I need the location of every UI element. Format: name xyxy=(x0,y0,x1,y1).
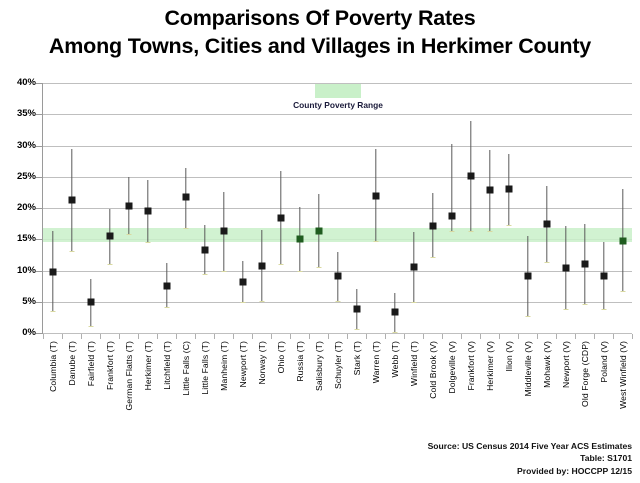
x-axis-category-label: Columbia (T) xyxy=(48,341,58,392)
x-axis-tick xyxy=(290,334,291,339)
legend-swatch-county-range xyxy=(315,84,361,98)
x-axis-category-label: German Flatts (T) xyxy=(124,341,134,411)
data-point-group[interactable] xyxy=(556,83,575,333)
x-axis-tick xyxy=(214,334,215,339)
x-axis-category-label: Winfield (T) xyxy=(409,341,419,386)
x-axis-category-label: Warren (T) xyxy=(371,341,381,383)
data-point-marker[interactable] xyxy=(505,186,512,193)
y-axis-tick xyxy=(36,239,42,240)
x-axis-category-label: Litchfield (T) xyxy=(162,341,172,390)
data-point-group[interactable] xyxy=(290,83,309,333)
x-axis-tick xyxy=(518,334,519,339)
error-bar-lower-cap xyxy=(88,326,93,327)
error-bar-lower-cap xyxy=(221,271,226,272)
data-point-marker[interactable] xyxy=(581,261,588,268)
error-bar-lower-cap xyxy=(525,316,530,317)
x-axis-category-label: Russia (T) xyxy=(295,341,305,382)
data-point-marker[interactable] xyxy=(524,273,531,280)
x-axis-category-label: Cold Brook (V) xyxy=(428,341,438,399)
data-point-marker[interactable] xyxy=(144,208,151,215)
error-bar-lower-cap xyxy=(563,309,568,310)
data-point-marker[interactable] xyxy=(296,236,303,243)
data-point-group[interactable] xyxy=(518,83,537,333)
data-point-marker[interactable] xyxy=(68,196,75,203)
data-point-group[interactable] xyxy=(62,83,81,333)
x-axis-tick xyxy=(176,334,177,339)
data-point-group[interactable] xyxy=(385,83,404,333)
error-bar-lower-cap xyxy=(297,271,302,272)
error-bar-lower-cap xyxy=(620,291,625,292)
y-axis-tick-label: 30% xyxy=(4,140,36,151)
data-point-marker[interactable] xyxy=(182,194,189,201)
error-bar-lower-cap xyxy=(392,332,397,333)
data-point-marker[interactable] xyxy=(220,228,227,235)
y-axis-tick-label: 15% xyxy=(4,233,36,244)
x-axis-category-label: Fairfield (T) xyxy=(86,341,96,386)
error-bar-lower-cap xyxy=(449,231,454,232)
x-axis-category-label: Stark (T) xyxy=(352,341,362,375)
error-bar-lower-cap xyxy=(373,241,378,242)
x-axis-category-label: Newport (V) xyxy=(561,341,571,388)
data-point-group[interactable] xyxy=(594,83,613,333)
data-point-group[interactable] xyxy=(461,83,480,333)
data-point-group[interactable] xyxy=(347,83,366,333)
error-bar-lower-cap xyxy=(50,311,55,312)
error-bar-lower-cap xyxy=(164,307,169,308)
x-axis-tick xyxy=(43,334,44,339)
data-point-group[interactable] xyxy=(195,83,214,333)
y-axis-tick-label: 35% xyxy=(4,108,36,119)
gridline xyxy=(43,333,632,334)
error-bar-lower-cap xyxy=(145,242,150,243)
error-bar-lower-cap xyxy=(506,225,511,226)
y-axis-tick-label: 0% xyxy=(4,327,36,338)
chart-footer: Source: US Census 2014 Five Year ACS Est… xyxy=(428,440,632,478)
chart-title-line-2: Among Towns, Cities and Villages in Herk… xyxy=(0,32,640,60)
page-title: Comparisons Of Poverty Rates Among Towns… xyxy=(0,4,640,60)
y-axis-tick-label: 20% xyxy=(4,202,36,213)
error-bar-lower-cap xyxy=(487,231,492,232)
data-point-group[interactable] xyxy=(176,83,195,333)
x-axis-tick xyxy=(233,334,234,339)
x-axis-category-label: Mohawk (V) xyxy=(542,341,552,388)
x-axis-category-label: Norway (T) xyxy=(257,341,267,385)
x-axis-category-label: Poland (V) xyxy=(599,341,609,383)
data-point-marker[interactable] xyxy=(429,222,436,229)
error-bar-lower-cap xyxy=(316,267,321,268)
x-axis-tick xyxy=(575,334,576,339)
x-axis-tick xyxy=(499,334,500,339)
data-point-marker[interactable] xyxy=(87,298,94,305)
error-bar-lower-cap xyxy=(259,301,264,302)
x-axis-tick xyxy=(100,334,101,339)
x-axis-tick xyxy=(347,334,348,339)
data-point-marker[interactable] xyxy=(315,227,322,234)
x-axis-tick xyxy=(594,334,595,339)
footer-source: Source: US Census 2014 Five Year ACS Est… xyxy=(428,440,632,453)
data-point-marker[interactable] xyxy=(486,186,493,193)
error-bar-lower-cap xyxy=(582,304,587,305)
data-point-marker[interactable] xyxy=(600,272,607,279)
x-axis-category-label: Herkimer (T) xyxy=(143,341,153,390)
data-point-marker[interactable] xyxy=(49,268,56,275)
data-point-group[interactable] xyxy=(499,83,518,333)
x-axis-tick xyxy=(480,334,481,339)
data-point-marker[interactable] xyxy=(410,263,417,270)
y-axis-tick xyxy=(36,83,42,84)
error-bar-lower-cap xyxy=(240,302,245,303)
x-axis-tick xyxy=(81,334,82,339)
x-axis-tick xyxy=(366,334,367,339)
x-axis-tick xyxy=(195,334,196,339)
x-axis-category-label: Herkimer (V) xyxy=(485,341,495,391)
data-point-marker[interactable] xyxy=(543,220,550,227)
data-point-marker[interactable] xyxy=(353,306,360,313)
y-axis-tick-label: 5% xyxy=(4,296,36,307)
error-bar-lower-cap xyxy=(69,251,74,252)
footer-provider: Provided by: HOCCPP 12/15 xyxy=(428,465,632,478)
x-axis-tick xyxy=(309,334,310,339)
y-axis-tick xyxy=(36,333,42,334)
data-point-marker[interactable] xyxy=(239,278,246,285)
error-bar-lower-cap xyxy=(468,231,473,232)
y-axis-tick xyxy=(36,146,42,147)
x-axis-tick xyxy=(385,334,386,339)
error-bar-lower-cap xyxy=(354,329,359,330)
data-point-marker[interactable] xyxy=(448,213,455,220)
x-axis-category-label: Manheim (T) xyxy=(219,341,229,391)
y-axis-tick-label: 40% xyxy=(4,77,36,88)
data-point-marker[interactable] xyxy=(467,173,474,180)
data-point-marker[interactable] xyxy=(562,265,569,272)
data-point-marker[interactable] xyxy=(163,282,170,289)
error-bar-lower-cap xyxy=(544,262,549,263)
data-point-group[interactable] xyxy=(613,83,632,333)
error-bar-lower-cap xyxy=(335,301,340,302)
data-point-marker[interactable] xyxy=(334,273,341,280)
data-point-group[interactable] xyxy=(214,83,233,333)
x-axis-tick xyxy=(271,334,272,339)
data-point-marker[interactable] xyxy=(125,202,132,209)
x-axis-category-label: Old Forge (CDP) xyxy=(580,341,590,407)
footer-table: Table: S1701 xyxy=(428,452,632,465)
data-point-marker[interactable] xyxy=(619,237,626,244)
data-point-group[interactable] xyxy=(423,83,442,333)
data-point-marker[interactable] xyxy=(258,262,265,269)
data-point-marker[interactable] xyxy=(201,246,208,253)
error-bar-lower-cap xyxy=(107,264,112,265)
x-axis-tick xyxy=(556,334,557,339)
x-axis-category-label: Danube (T) xyxy=(67,341,77,385)
data-point-group[interactable] xyxy=(442,83,461,333)
x-axis-tick xyxy=(157,334,158,339)
data-point-group[interactable] xyxy=(43,83,62,333)
y-axis-tick-label: 10% xyxy=(4,265,36,276)
x-axis-category-label: Little Falls (C) xyxy=(181,341,191,396)
x-axis-tick xyxy=(138,334,139,339)
x-axis-category-label: Schuyler (T) xyxy=(333,341,343,389)
y-axis-tick-label: 25% xyxy=(4,171,36,182)
error-bar-lower-cap xyxy=(126,234,131,235)
error-bar-lower-cap xyxy=(202,274,207,275)
x-axis-tick xyxy=(328,334,329,339)
x-axis-category-label: Middleville (V) xyxy=(523,341,533,396)
x-axis-tick xyxy=(423,334,424,339)
x-axis-tick xyxy=(461,334,462,339)
y-axis-tick xyxy=(36,208,42,209)
y-axis-tick xyxy=(36,114,42,115)
x-axis-category-label: Webb (T) xyxy=(390,341,400,377)
data-point-group[interactable] xyxy=(404,83,423,333)
x-axis-category-label: Ohio (T) xyxy=(276,341,286,373)
legend-label: County Poverty Range xyxy=(283,100,393,110)
data-point-group[interactable] xyxy=(480,83,499,333)
data-point-group[interactable] xyxy=(537,83,556,333)
y-axis-labels: 40%35%30%25%20%15%10%5%0% xyxy=(0,0,36,483)
error-bar-lower-cap xyxy=(411,302,416,303)
data-point-group[interactable] xyxy=(100,83,119,333)
error-bar-lower-cap xyxy=(601,309,606,310)
x-axis-tick xyxy=(119,334,120,339)
data-point-group[interactable] xyxy=(271,83,290,333)
data-point-marker[interactable] xyxy=(106,233,113,240)
data-point-marker[interactable] xyxy=(391,309,398,316)
x-axis-category-label: Little Falls (T) xyxy=(200,341,210,395)
x-axis-category-label: Newport (T) xyxy=(238,341,248,387)
x-axis-tick xyxy=(442,334,443,339)
data-point-marker[interactable] xyxy=(372,192,379,199)
x-axis-category-label: Frankfort (V) xyxy=(466,341,476,391)
x-axis-category-label: Ilion (V) xyxy=(504,341,514,372)
x-axis-tick xyxy=(404,334,405,339)
chart-legend: County Poverty Range xyxy=(283,84,393,110)
x-axis-category-label: Dolgeville (V) xyxy=(447,341,457,394)
error-bar-lower-cap xyxy=(430,257,435,258)
data-point-group[interactable] xyxy=(252,83,271,333)
data-point-group[interactable] xyxy=(328,83,347,333)
data-point-marker[interactable] xyxy=(277,215,284,222)
y-axis-tick xyxy=(36,302,42,303)
x-axis-category-label: Salisbury (T) xyxy=(314,341,324,391)
x-axis-category-label: West Winfield (V) xyxy=(618,341,628,409)
x-axis-tick xyxy=(537,334,538,339)
chart-title-line-1: Comparisons Of Poverty Rates xyxy=(0,4,640,32)
x-axis-tick xyxy=(632,334,633,339)
x-axis-tick xyxy=(613,334,614,339)
error-bar-lower-cap xyxy=(183,228,188,229)
x-axis-category-label: Frankfort (T) xyxy=(105,341,115,390)
plot-area xyxy=(43,83,632,333)
data-point-group[interactable] xyxy=(157,83,176,333)
x-axis-tick xyxy=(62,334,63,339)
data-point-group[interactable] xyxy=(138,83,157,333)
data-point-group[interactable] xyxy=(81,83,100,333)
error-bar-lower-cap xyxy=(278,264,283,265)
data-point-group[interactable] xyxy=(309,83,328,333)
y-axis-tick xyxy=(36,177,42,178)
y-axis-tick xyxy=(36,271,42,272)
data-point-group[interactable] xyxy=(233,83,252,333)
data-point-group[interactable] xyxy=(575,83,594,333)
data-point-group[interactable] xyxy=(119,83,138,333)
data-point-group[interactable] xyxy=(366,83,385,333)
x-axis-tick xyxy=(252,334,253,339)
